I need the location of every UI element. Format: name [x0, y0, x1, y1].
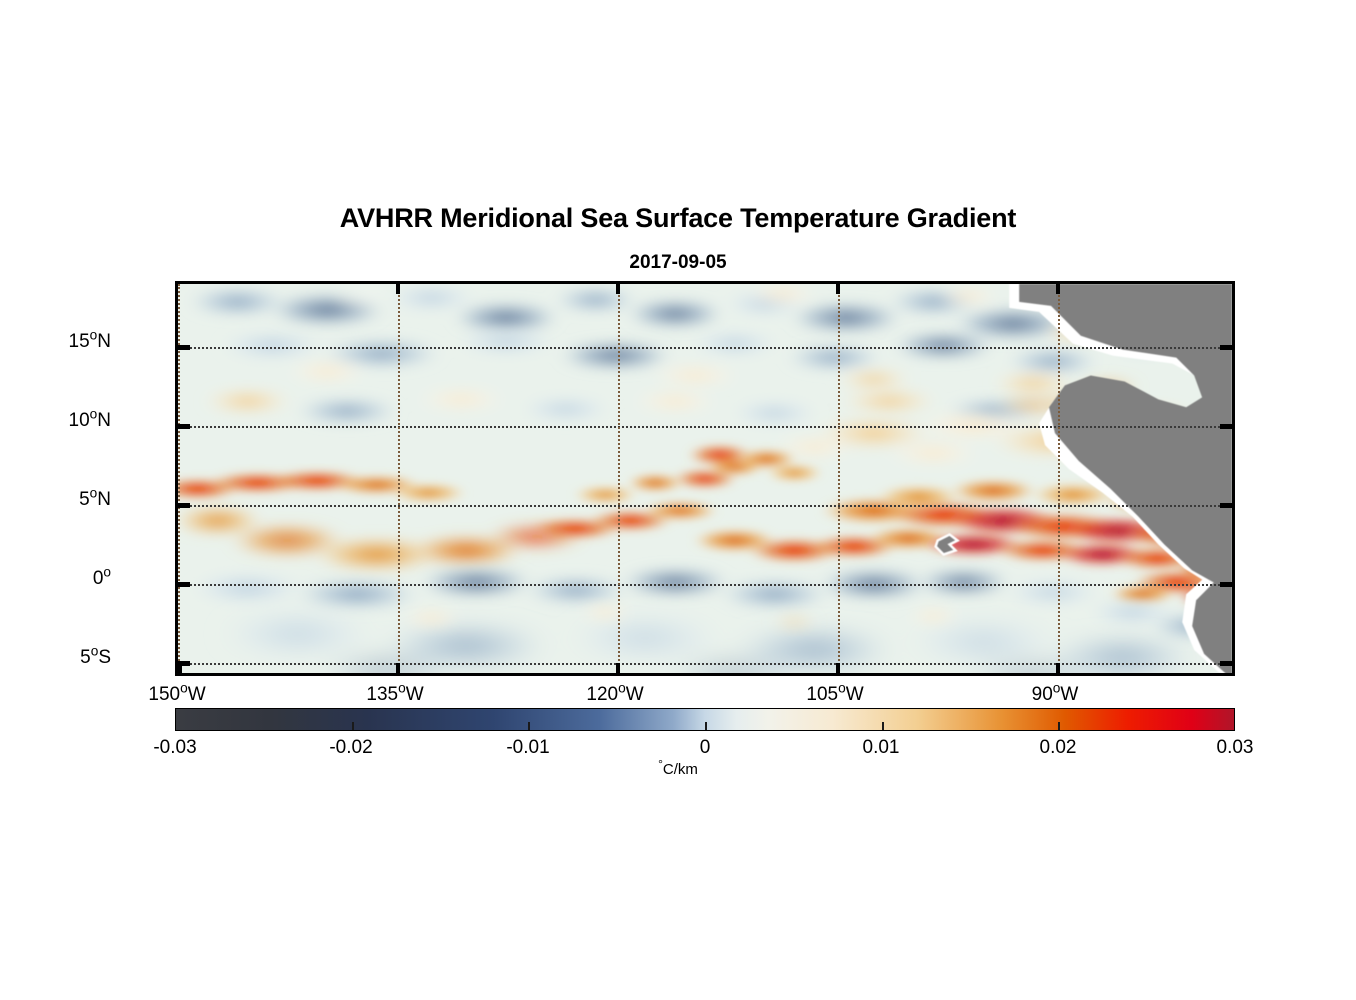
xtick-label-90w-num: 90: [1032, 684, 1053, 705]
gridline-lat-5: [178, 505, 1232, 507]
gridline-lat-5s: [178, 663, 1232, 665]
ytick-label-5s-hemi: S: [98, 647, 111, 668]
ytick-15n: [178, 345, 190, 350]
xtick-120w: [616, 663, 620, 673]
degree-symbol: o: [180, 681, 188, 696]
ytick-label-0-num: 0: [93, 568, 104, 589]
xtick-label-150w: 150oW: [97, 684, 257, 706]
ytick-label-5s-num: 5: [80, 647, 91, 668]
colorbar-label-0.02: 0.02: [988, 737, 1128, 759]
xtick-top-120w: [616, 284, 620, 294]
colorbar: [175, 708, 1235, 731]
colorbar-tick-0: [705, 722, 707, 730]
gridline-lat-10: [178, 426, 1232, 428]
ytick-right-5s: [1220, 661, 1232, 666]
gridline-lon-135w: [398, 284, 400, 673]
xtick-135w: [396, 663, 400, 673]
gridline-lon-105w: [838, 284, 840, 673]
ytick-0: [178, 582, 190, 587]
ytick-label-15n: 15oN: [0, 331, 111, 353]
colorbar-tick--0.01: [528, 722, 530, 730]
ytick-label-10n: 10oN: [0, 410, 111, 432]
ytick-right-5n: [1220, 503, 1232, 508]
gridline-lon-150w: [178, 284, 180, 673]
xtick-150w: [178, 663, 182, 673]
xtick-top-105w: [836, 284, 840, 294]
xtick-top-90w: [1056, 284, 1060, 294]
colorbar-label-0.03: 0.03: [1165, 737, 1305, 759]
xtick-top-135w: [396, 284, 400, 294]
degree-symbol: o: [618, 681, 626, 696]
sst-gradient-field: [178, 284, 1232, 676]
colorbar-label--0.03: -0.03: [105, 737, 245, 759]
ytick-label-15n-hemi: N: [97, 331, 111, 352]
colorbar-tick-0.01: [882, 722, 884, 730]
xtick-label-120w-hemi: W: [626, 684, 644, 705]
ytick-5n: [178, 503, 190, 508]
gridline-lat-0: [178, 584, 1232, 586]
degree-symbol: o: [838, 681, 846, 696]
gridline-lat-15: [178, 347, 1232, 349]
xtick-label-105w-num: 105: [806, 684, 838, 705]
colorbar-tick-0.02: [1058, 722, 1060, 730]
colorbar-label--0.01: -0.01: [458, 737, 598, 759]
colorbar-unit-label: °C/km: [0, 761, 1356, 778]
ytick-label-5n-num: 5: [79, 489, 90, 510]
ytick-label-5s: 5oS: [0, 647, 111, 669]
xtick-label-105w-hemi: W: [846, 684, 864, 705]
ytick-label-10n-hemi: N: [97, 410, 111, 431]
colorbar-label-0: 0: [635, 737, 775, 759]
ytick-10n: [178, 424, 190, 429]
ytick-label-5n-hemi: N: [97, 489, 111, 510]
ytick-right-10n: [1220, 424, 1232, 429]
map-plot-area: [175, 281, 1235, 676]
ytick-label-15n-num: 15: [69, 331, 90, 352]
colorbar-label--0.02: -0.02: [281, 737, 421, 759]
gridline-lon-120w: [618, 284, 620, 673]
colorbar-unit-text: C/km: [663, 761, 698, 778]
xtick-105w: [836, 663, 840, 673]
ytick-right-0: [1220, 582, 1232, 587]
xtick-label-150w-hemi: W: [188, 684, 206, 705]
xtick-90w: [1056, 663, 1060, 673]
xtick-label-90w: 90oW: [975, 684, 1135, 706]
xtick-label-135w: 135oW: [315, 684, 475, 706]
colorbar-label-0.01: 0.01: [811, 737, 951, 759]
xtick-label-90w-hemi: W: [1060, 684, 1078, 705]
colorbar-tick--0.02: [352, 722, 354, 730]
ytick-label-5n: 5oN: [0, 489, 111, 511]
xtick-label-135w-num: 135: [366, 684, 398, 705]
figure-title: AVHRR Meridional Sea Surface Temperature…: [0, 203, 1356, 234]
ytick-label-0: 0o: [0, 568, 111, 590]
ytick-label-10n-num: 10: [69, 410, 90, 431]
degree-symbol: o: [398, 681, 406, 696]
xtick-label-150w-num: 150: [148, 684, 180, 705]
xtick-label-120w-num: 120: [586, 684, 618, 705]
xtick-label-120w: 120oW: [535, 684, 695, 706]
degree-symbol: o: [103, 565, 111, 580]
gridline-lon-90w: [1058, 284, 1060, 673]
xtick-label-135w-hemi: W: [406, 684, 424, 705]
xtick-label-105w: 105oW: [755, 684, 915, 706]
ytick-right-15n: [1220, 345, 1232, 350]
figure-subtitle-date: 2017-09-05: [0, 252, 1356, 274]
